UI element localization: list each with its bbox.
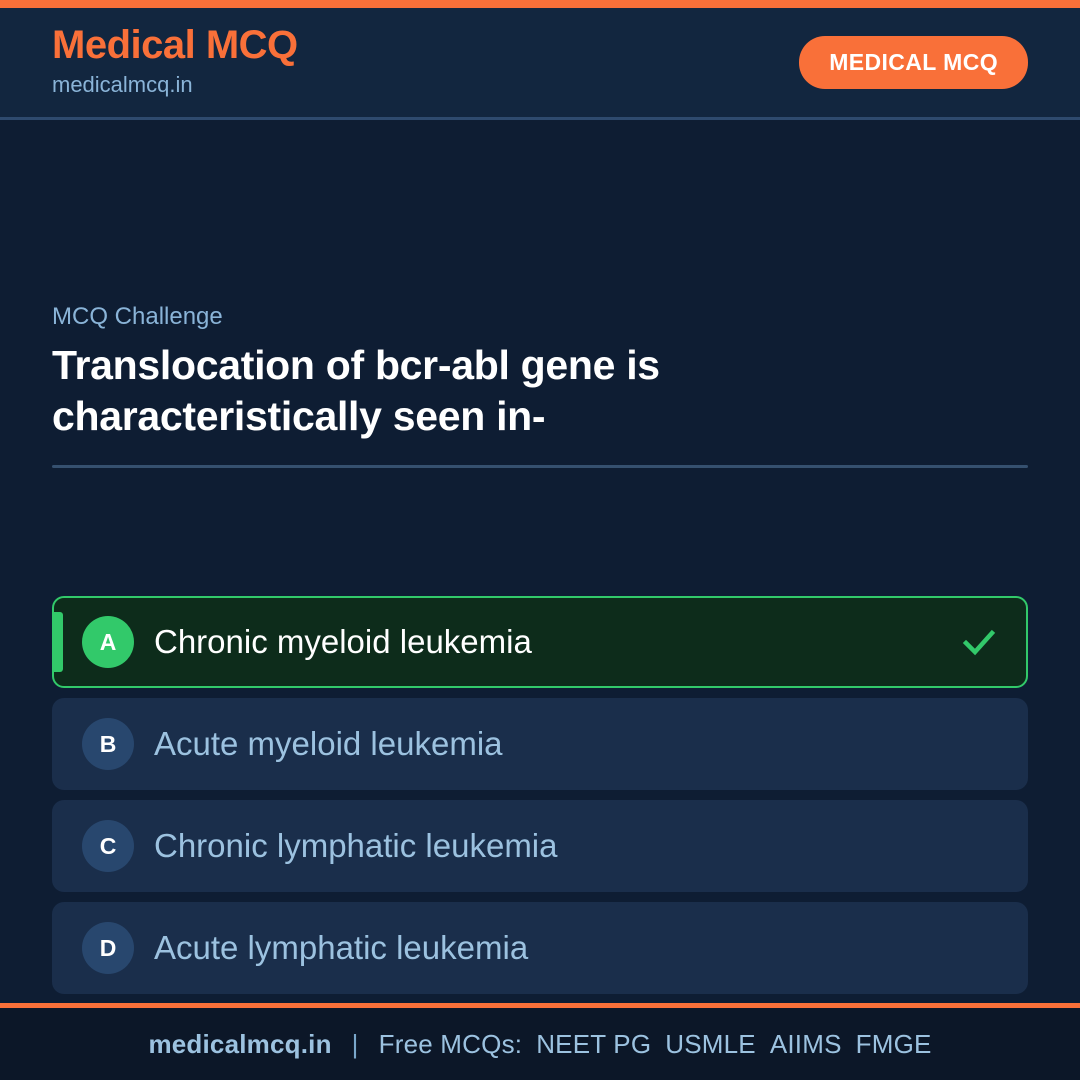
- option-d[interactable]: DAcute lymphatic leukemia: [52, 902, 1028, 994]
- footer-site: medicalmcq.in: [148, 1029, 331, 1060]
- option-label: Acute myeloid leukemia: [154, 724, 960, 764]
- correct-accent-bar: [54, 612, 63, 672]
- main-content: MCQ Challenge Translocation of bcr-abl g…: [0, 120, 1080, 1003]
- option-letter-badge: D: [82, 922, 134, 974]
- options-list: AChronic myeloid leukemiaBAcute myeloid …: [52, 596, 1028, 994]
- question-kicker: MCQ Challenge: [52, 302, 1028, 332]
- option-b[interactable]: BAcute myeloid leukemia: [52, 698, 1028, 790]
- option-label: Chronic myeloid leukemia: [154, 622, 958, 662]
- question-divider: [52, 465, 1028, 468]
- page-header: Medical MCQ medicalmcq.in MEDICAL MCQ: [0, 8, 1080, 120]
- page-footer: medicalmcq.in | Free MCQs: NEET PG USMLE…: [0, 1003, 1080, 1080]
- question-text: Translocation of bcr-abl gene is charact…: [52, 340, 992, 443]
- header-badge: MEDICAL MCQ: [799, 36, 1028, 89]
- top-accent-bar: [0, 0, 1080, 8]
- footer-exam-2: AIIMS: [770, 1029, 842, 1060]
- footer-exam-1: USMLE: [665, 1029, 756, 1060]
- option-letter-badge: C: [82, 820, 134, 872]
- option-label: Chronic lymphatic leukemia: [154, 826, 960, 866]
- option-letter-badge: A: [82, 616, 134, 668]
- footer-bar: medicalmcq.in | Free MCQs: NEET PG USMLE…: [0, 1008, 1080, 1080]
- brand-title: Medical MCQ: [52, 24, 298, 66]
- footer-exam-3: FMGE: [856, 1029, 932, 1060]
- footer-exam-0: NEET PG: [536, 1029, 651, 1060]
- question-block: MCQ Challenge Translocation of bcr-abl g…: [52, 302, 1028, 468]
- mcq-card: Medical MCQ medicalmcq.in MEDICAL MCQ MC…: [0, 0, 1080, 1080]
- brand-subtitle: medicalmcq.in: [52, 68, 298, 101]
- brand: Medical MCQ medicalmcq.in: [52, 24, 298, 101]
- option-c[interactable]: CChronic lymphatic leukemia: [52, 800, 1028, 892]
- check-icon: [958, 621, 1000, 663]
- option-label: Acute lymphatic leukemia: [154, 928, 960, 968]
- option-a[interactable]: AChronic myeloid leukemia: [52, 596, 1028, 688]
- option-letter-badge: B: [82, 718, 134, 770]
- footer-prefix: Free MCQs:: [379, 1029, 523, 1060]
- footer-separator: |: [352, 1029, 359, 1060]
